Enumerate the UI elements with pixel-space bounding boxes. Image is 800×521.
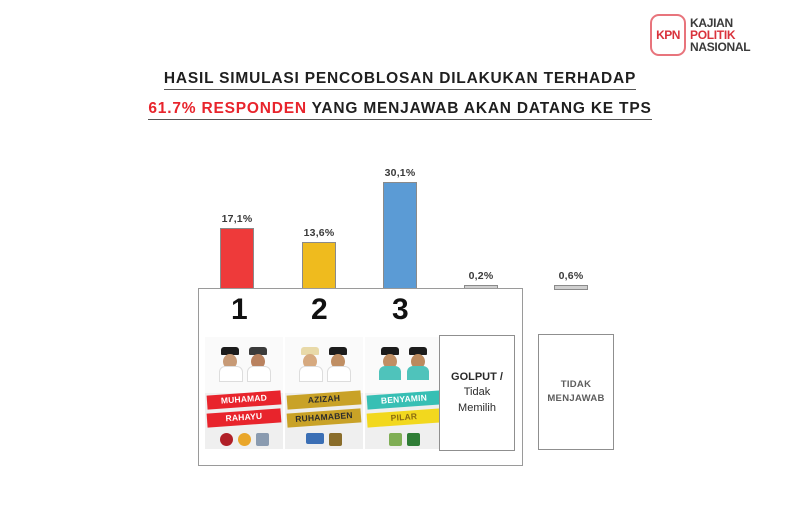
candidate-head-icon xyxy=(407,347,429,375)
party-logo-icon xyxy=(306,433,324,444)
bar-column-4: 0,2% xyxy=(464,270,498,290)
kpn-logo-wordmark: KAJIAN POLITIK NASIONAL xyxy=(690,17,750,54)
bar-value-label-3: 30,1% xyxy=(385,167,416,179)
candidate-head-icon xyxy=(247,347,269,375)
candidate-name-line2-1: RAHAYU xyxy=(207,410,282,425)
bar-column-5: 0,6% xyxy=(554,270,588,290)
party-logos-1 xyxy=(205,433,283,446)
tidak-menjawab-line-1: TIDAK xyxy=(561,378,592,392)
bar-chart: 17,1% 13,6% 30,1% 0,2% 0,6% xyxy=(196,150,616,290)
candidate-name-line2-3: PILAR xyxy=(367,410,442,425)
golput-line-1: GOLPUT / xyxy=(451,370,503,385)
candidate-card-3[interactable]: BENYAMIN PILAR xyxy=(365,337,443,449)
title-line-1-wrap: HASIL SIMULASI PENCOBLOSAN DILAKUKAN TER… xyxy=(0,70,800,100)
candidate-number-3: 3 xyxy=(392,293,409,327)
party-logo-icon xyxy=(329,433,342,446)
candidate-head-icon xyxy=(379,347,401,375)
party-logo-icon xyxy=(238,433,251,446)
bar-column-1: 17,1% xyxy=(220,213,254,290)
page-title: HASIL SIMULASI PENCOBLOSAN DILAKUKAN TER… xyxy=(0,70,800,120)
candidate-banner-2: AZIZAH xyxy=(287,390,362,409)
candidate-photo-1 xyxy=(205,337,283,393)
candidate-name-line2-2: RUHAMABEN xyxy=(287,410,362,425)
candidate-banner-3: BENYAMIN xyxy=(367,390,442,409)
title-line-2-rest: YANG MENJAWAB AKAN DATANG KE TPS xyxy=(307,100,652,117)
candidate-head-icon xyxy=(327,347,349,375)
candidate-photo-2 xyxy=(285,337,363,393)
title-line-2-wrap: 61.7% RESPONDEN YANG MENJAWAB AKAN DATAN… xyxy=(0,100,800,120)
party-logo-icon xyxy=(389,433,402,446)
candidate-banner-2b: RUHAMABEN xyxy=(287,408,362,427)
candidate-banner-1b: RAHAYU xyxy=(207,408,282,427)
candidate-panel: 1 2 3 MUHAMAD RAHAYU xyxy=(198,288,523,466)
bar-5 xyxy=(554,285,588,290)
bar-value-label-1: 17,1% xyxy=(222,213,253,225)
party-logo-icon xyxy=(256,433,269,446)
tidak-menjawab-line-2: MENJAWAB xyxy=(547,392,604,406)
candidate-name-line1-1: MUHAMAD xyxy=(207,392,282,407)
candidate-card-2[interactable]: AZIZAH RUHAMABEN xyxy=(285,337,363,449)
candidate-name-line1-2: AZIZAH xyxy=(287,392,362,407)
bar-value-label-5: 0,6% xyxy=(559,270,584,282)
logo-word-nasional: NASIONAL xyxy=(690,41,750,53)
candidate-number-1: 1 xyxy=(231,293,248,327)
party-logo-icon xyxy=(220,433,233,446)
candidate-banner-3b: PILAR xyxy=(367,408,442,427)
title-line-1: HASIL SIMULASI PENCOBLOSAN DILAKUKAN TER… xyxy=(164,70,636,90)
candidate-card-1[interactable]: MUHAMAD RAHAYU xyxy=(205,337,283,449)
bar-column-3: 30,1% xyxy=(383,167,417,290)
golput-box: GOLPUT / Tidak Memilih xyxy=(439,335,515,451)
bar-column-2: 13,6% xyxy=(302,227,336,290)
party-logos-2 xyxy=(285,433,363,446)
party-logo-icon xyxy=(407,433,420,446)
candidate-banner-1: MUHAMAD xyxy=(207,390,282,409)
bar-value-label-4: 0,2% xyxy=(469,270,494,282)
party-logos-3 xyxy=(365,433,443,446)
kpn-logo: KPN KAJIAN POLITIK NASIONAL xyxy=(650,14,750,56)
golput-line-2: Tidak xyxy=(464,385,491,400)
candidate-head-icon xyxy=(299,347,321,375)
bar-3 xyxy=(383,182,417,290)
golput-line-3: Memilih xyxy=(458,401,496,416)
title-line-2: 61.7% RESPONDEN YANG MENJAWAB AKAN DATAN… xyxy=(148,100,651,120)
bar-value-label-2: 13,6% xyxy=(304,227,335,239)
bar-2 xyxy=(302,242,336,290)
candidate-number-2: 2 xyxy=(311,293,328,327)
title-highlight-respondent-pct: 61.7% RESPONDEN xyxy=(148,100,306,117)
kpn-logo-mark-text: KPN xyxy=(656,28,680,42)
bar-1 xyxy=(220,228,254,290)
tidak-menjawab-box: TIDAK MENJAWAB xyxy=(538,334,614,450)
candidate-name-line1-3: BENYAMIN xyxy=(367,392,442,407)
kpn-logo-mark: KPN xyxy=(650,14,686,56)
candidate-head-icon xyxy=(219,347,241,375)
candidate-photo-3 xyxy=(365,337,443,393)
candidate-numbers-row: 1 2 3 xyxy=(199,293,522,337)
